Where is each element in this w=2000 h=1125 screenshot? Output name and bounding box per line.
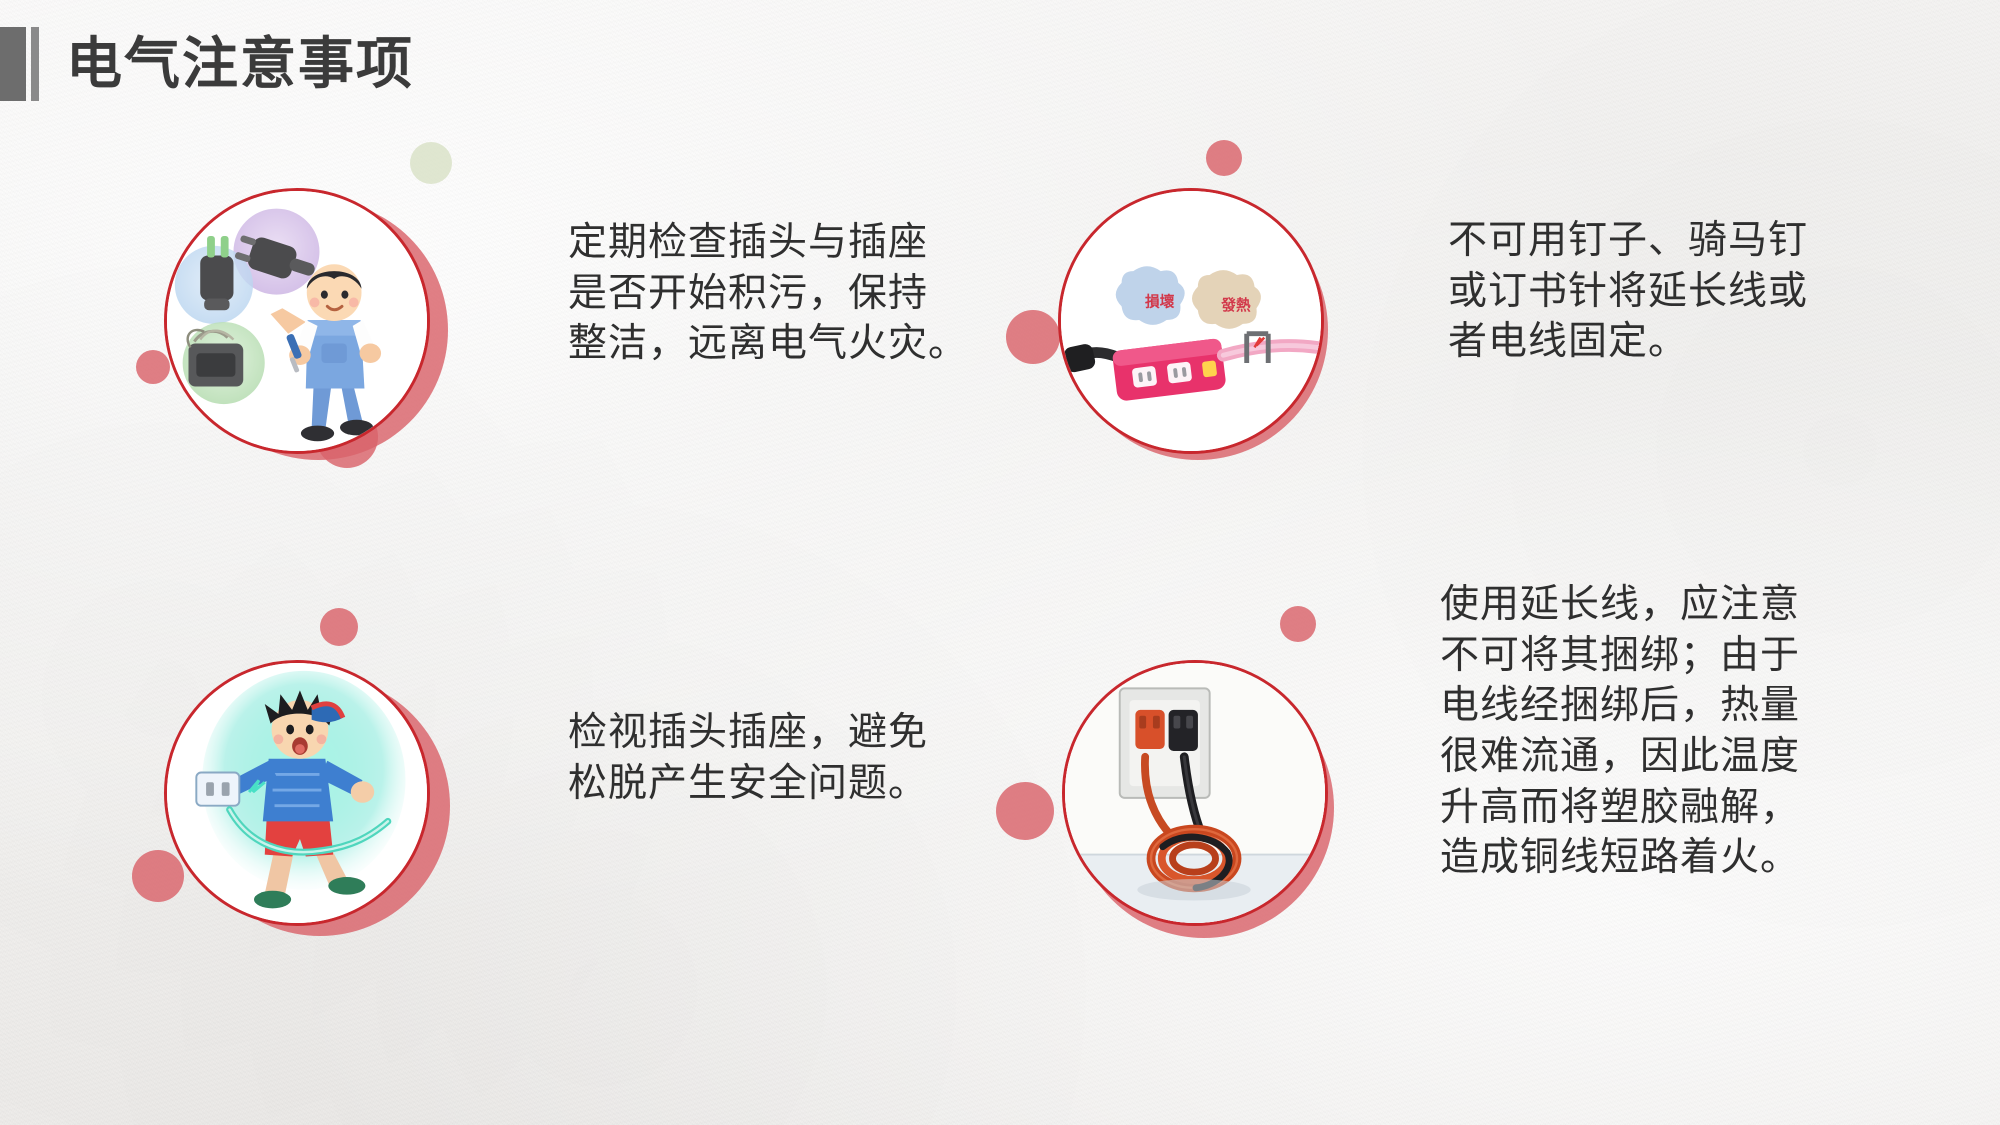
page-title: 电气注意事项 bbox=[66, 36, 414, 92]
tip-item-4-media bbox=[1028, 630, 1448, 960]
decor-red-dot-small bbox=[136, 350, 170, 384]
decor-red-dot-top bbox=[1206, 140, 1242, 176]
tip-item-1-media bbox=[128, 160, 548, 490]
coiled-extension-cord-illustration bbox=[1062, 660, 1328, 926]
tip-item-3-text: 检视插头插座，避免 松脱产生安全问题。 bbox=[568, 708, 988, 809]
decor-red-dot-top bbox=[1280, 606, 1316, 642]
decor-green-dot bbox=[410, 142, 452, 184]
boy-with-plugs-illustration bbox=[164, 188, 430, 454]
decor-red-dot-large bbox=[1006, 310, 1060, 364]
decor-red-dot-top bbox=[320, 608, 358, 646]
svg-text:損壞: 損壞 bbox=[1145, 292, 1175, 310]
damaged-extension-cord-illustration: 損壞 發熱 bbox=[1058, 188, 1324, 454]
tip-item-1-text: 定期检查插头与插座 是否开始积污，保持 整洁，远离电气火灾。 bbox=[568, 218, 988, 370]
tip-item-4-text: 使用延长线，应注意 不可将其捆绑；由于 电线经捆绑后，热量 很难流通，因此温度 … bbox=[1440, 580, 1860, 884]
tip-item-4: 使用延长线，应注意 不可将其捆绑；由于 电线经捆绑后，热量 很难流通，因此温度 … bbox=[1028, 630, 1928, 1010]
tip-item-3-media bbox=[128, 630, 548, 960]
tip-item-1: 定期检查插头与插座 是否开始积污，保持 整洁，远离电气火灾。 bbox=[128, 160, 988, 500]
tip-item-2: 損壞 發熱 bbox=[1028, 160, 1888, 500]
title-accent-bar-thin bbox=[31, 27, 39, 101]
page-header: 电气注意事项 bbox=[0, 26, 414, 102]
tip-item-2-media: 損壞 發熱 bbox=[1028, 160, 1448, 490]
tip-item-3: 检视插头插座，避免 松脱产生安全问题。 bbox=[128, 630, 988, 970]
title-accent-bar-thick bbox=[0, 27, 26, 101]
tip-item-2-text: 不可用钉子、骑马钉 或订书针将延长线或 者电线固定。 bbox=[1448, 216, 1868, 368]
page-background: 电气注意事项 bbox=[0, 0, 2000, 1125]
svg-text:發熱: 發熱 bbox=[1220, 296, 1251, 314]
decor-red-dot-small bbox=[996, 782, 1054, 840]
electric-shock-boy-illustration bbox=[164, 660, 430, 926]
